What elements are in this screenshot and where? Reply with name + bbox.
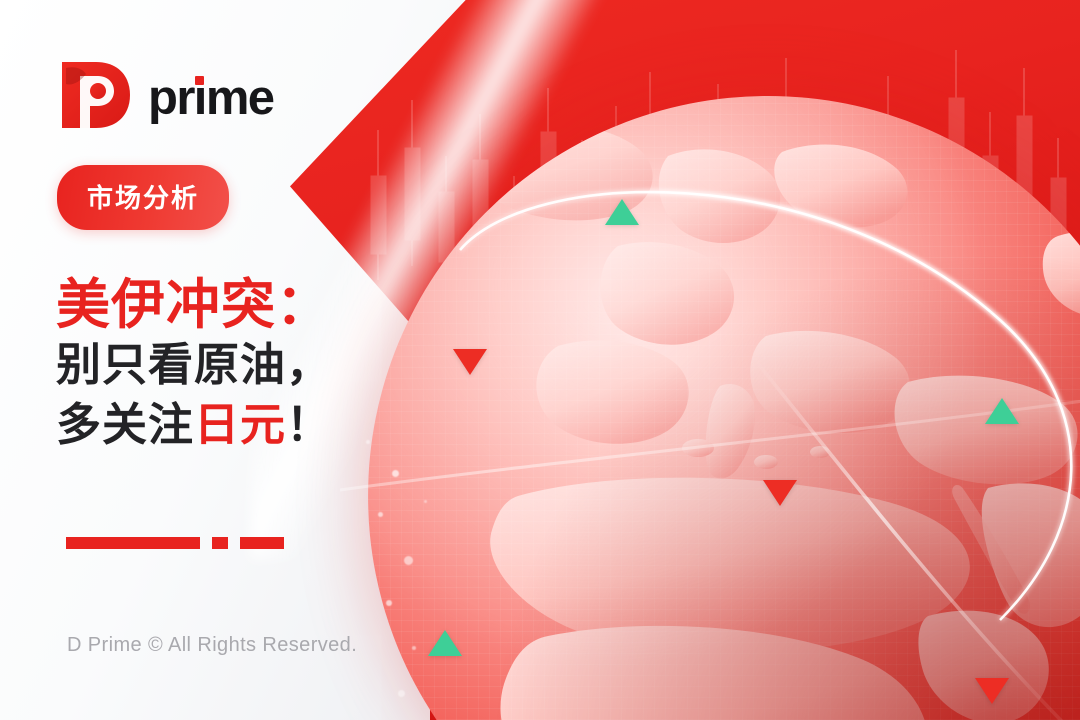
decorative-divider — [66, 537, 284, 549]
content-column: prime 市场分析 美伊冲突： 别只看原油， 多关注日元！ D Prime ©… — [0, 0, 400, 720]
wordmark-text: prime — [148, 71, 273, 125]
copyright-footer: D Prime © All Rights Reserved. — [67, 634, 357, 657]
d-prime-logo-icon — [56, 56, 134, 134]
marker-down-2 — [763, 480, 797, 506]
divider-segment-short — [240, 537, 284, 549]
headline-block: 美伊冲突： 别只看原油， 多关注日元！ — [56, 275, 386, 455]
headline-line-2: 别只看原油， — [56, 335, 386, 395]
poster-canvas: prime 市场分析 美伊冲突： 别只看原油， 多关注日元！ D Prime ©… — [0, 0, 1080, 720]
marker-down-1 — [453, 349, 487, 375]
headline-line-3-suffix: ！ — [286, 399, 332, 450]
globe-sphere — [368, 96, 1080, 720]
divider-segment-dot — [212, 537, 228, 549]
category-badge[interactable]: 市场分析 — [57, 165, 229, 230]
wordmark-i-dot — [195, 76, 204, 85]
marker-up-3 — [428, 630, 462, 656]
marker-up-1 — [605, 199, 639, 225]
brand-logo[interactable]: prime — [56, 56, 273, 134]
marker-down-3 — [975, 678, 1009, 704]
headline-line-3-accent: 日元 — [194, 399, 286, 450]
divider-segment-long — [66, 537, 200, 549]
globe-graphic — [368, 96, 1080, 720]
marker-up-2 — [985, 398, 1019, 424]
brand-wordmark: prime — [148, 74, 273, 123]
headline-line-1: 美伊冲突： — [56, 275, 386, 335]
category-badge-label: 市场分析 — [87, 183, 199, 213]
headline-line-3: 多关注日元！ — [56, 395, 386, 455]
headline-line-3-prefix: 多关注 — [56, 399, 194, 450]
